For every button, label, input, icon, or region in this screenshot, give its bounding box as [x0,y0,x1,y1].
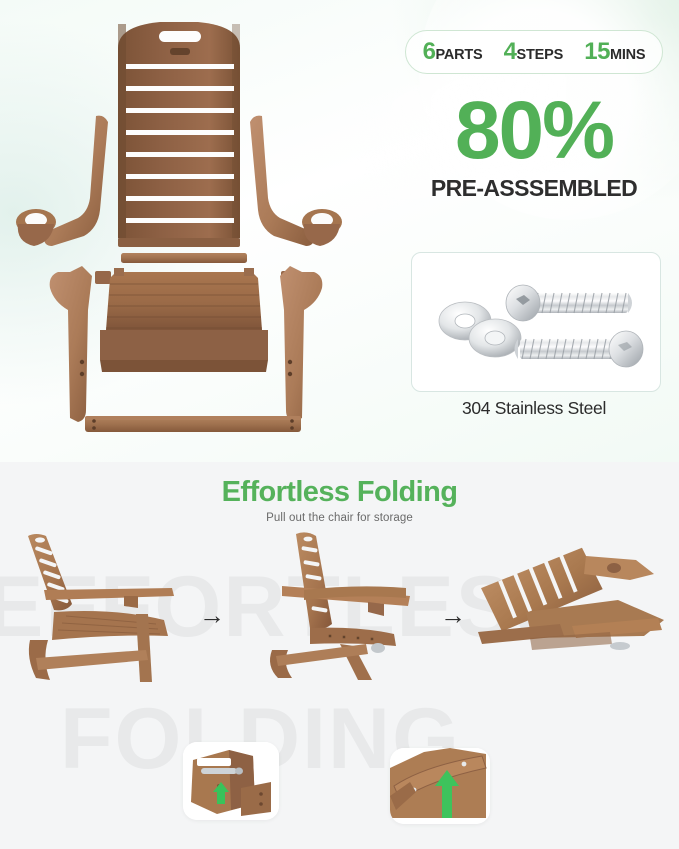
part-seat-assembly [100,268,268,372]
hardware-caption: 304 Stainless Steel [405,398,663,419]
folding-subtitle: Pull out the chair for storage [0,512,679,524]
stat-parts-label: PARTS [435,47,482,63]
detail-card-latch-release [183,742,279,820]
bolt-lower [515,331,644,367]
part-leg-left [50,266,92,422]
stat-mins-label: MINS [610,47,645,63]
infographic-page: 6 PARTS 4 STEPS 15 MINS 80% PRE-ASSSEMBL… [0,0,679,849]
stats-badge-row: 6 PARTS 4 STEPS 15 MINS [405,30,663,74]
part-cross-brace-bottom [85,416,301,432]
detail-armrest-illustration [390,748,490,824]
pre-assembled-caption: PRE-ASSSEMBLED [405,175,663,202]
chair-seat-collapsed [310,628,396,646]
folding-panel: EFFORTLESS FOLDING Effortless Folding Pu… [0,462,679,849]
stat-steps-number: 4 [504,38,517,66]
chair-armrest-raised [282,586,410,616]
part-armrest-left [16,116,108,246]
stat-steps-label: STEPS [517,47,564,63]
part-leg-right [280,266,322,422]
detail-card-armrest-lift [390,748,490,824]
part-backrest [118,22,240,247]
chair-seat [52,611,168,640]
arrow-step-1-to-2: → [199,602,225,628]
stat-parts: 6 PARTS [423,38,483,66]
detail-latch-illustration [183,742,279,820]
chair-legs-splayed [270,643,385,680]
pre-assembled-percent: 80% [405,92,663,171]
folding-step-2-chair-folding [248,528,438,688]
chair-backrest [296,532,332,629]
arrow-step-2-to-3: → [440,602,466,628]
stat-parts-number: 6 [423,38,436,66]
stat-mins-number: 15 [584,38,610,66]
hardware-illustration [412,253,660,391]
folding-step-1-chair-upright [6,528,196,688]
bolt-upper [506,285,632,321]
pre-assembled-block: 80% PRE-ASSSEMBLED [405,92,663,202]
hardware-card [411,252,661,392]
folding-title: Effortless Folding [0,476,679,509]
part-armrest-right [250,116,342,246]
exploded-parts-diagram [0,10,400,460]
part-cross-brace-top [121,253,247,263]
folding-step-3-chair-folded [468,540,676,680]
washer-front [469,319,521,357]
stat-steps: 4 STEPS [504,38,563,66]
stat-mins: 15 MINS [584,38,645,66]
top-panel: 6 PARTS 4 STEPS 15 MINS 80% PRE-ASSSEMBL… [0,0,679,462]
